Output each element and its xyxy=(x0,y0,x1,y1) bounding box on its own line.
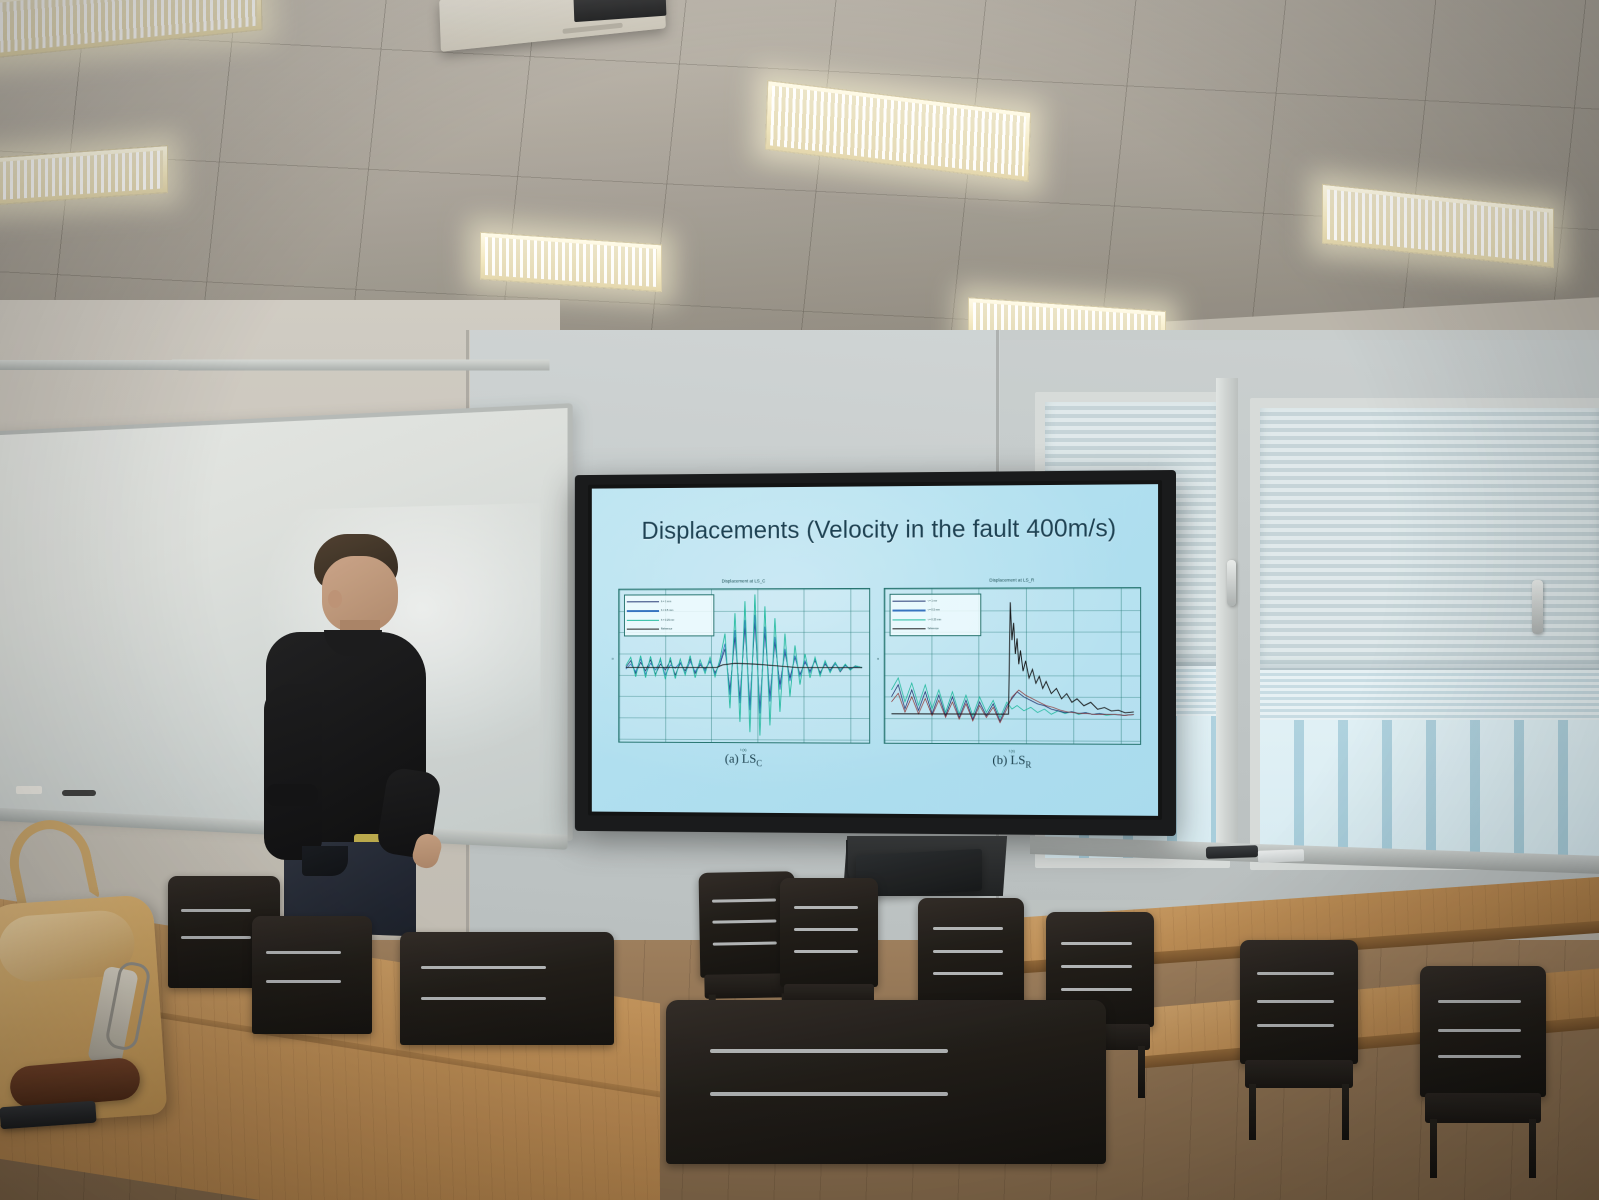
display-bezel: Displacements (Velocity in the fault 400… xyxy=(588,480,1162,820)
chart-right-legend: h = 1 mm h = 0.5 mm h = 0.25 mm Referenc… xyxy=(889,593,981,636)
figure-right: Displacement at LS_R h = 1 mm h = 0.5 mm xyxy=(885,587,1141,773)
presenter-left-arm xyxy=(264,684,322,860)
window-handle-left[interactable] xyxy=(1227,560,1236,606)
legend-label: h = 0.5 mm xyxy=(927,609,940,612)
legend-swatch xyxy=(627,610,659,612)
legend-entry: h = 1 mm xyxy=(627,598,711,606)
legend-label: Reference xyxy=(927,627,939,630)
legend-swatch xyxy=(892,610,925,612)
slide-surface: Displacements (Velocity in the fault 400… xyxy=(592,484,1158,816)
figure-left: Displacement at LS_C h = 1 mm h = 0.5 mm xyxy=(619,588,869,771)
wall-rail xyxy=(0,359,550,370)
legend-entry: Reference xyxy=(892,625,978,633)
presenter-sleeve-cuff xyxy=(266,784,318,806)
figure-right-caption: (b) LSR xyxy=(992,752,1031,770)
legend-entry: h = 0.25 mm xyxy=(892,616,978,624)
chair[interactable] xyxy=(1420,966,1546,1178)
figure-left-caption: (a) LSC xyxy=(725,751,762,768)
papers-on-ledge xyxy=(1258,849,1304,863)
window-view xyxy=(1260,670,1599,860)
chair-back xyxy=(252,916,372,1034)
chart-right-title: Displacement at LS_R xyxy=(885,577,1141,583)
chair[interactable] xyxy=(1240,940,1358,1140)
remote-control[interactable] xyxy=(1206,845,1258,859)
chair-back xyxy=(400,932,614,1045)
legend-label: h = 1 mm xyxy=(661,600,671,603)
presenter-pocket xyxy=(302,846,348,876)
chair-back xyxy=(780,878,878,987)
legend-swatch xyxy=(627,619,659,621)
projector-port-panel xyxy=(573,0,667,22)
window-mullion xyxy=(1216,378,1238,858)
legend-swatch xyxy=(627,601,659,603)
legend-swatch xyxy=(892,619,925,621)
chart-ls-r: Displacement at LS_R h = 1 mm h = 0.5 mm xyxy=(884,587,1142,745)
legend-entry: h = 0.25 mm xyxy=(627,616,711,624)
window-blind[interactable] xyxy=(1260,408,1599,670)
legend-entry: h = 1 mm xyxy=(892,597,978,605)
chart-left-ylabel: u xyxy=(611,658,615,660)
legend-label: h = 0.5 mm xyxy=(661,609,673,612)
presenter-ear xyxy=(328,590,342,608)
chair-back xyxy=(918,898,1024,1011)
window-handle-right[interactable] xyxy=(1532,580,1543,634)
legend-label: Reference xyxy=(661,628,672,631)
chair-back xyxy=(1240,940,1358,1064)
legend-swatch xyxy=(627,628,659,630)
chair-seat xyxy=(1245,1060,1354,1088)
chair[interactable] xyxy=(400,932,614,1114)
whiteboard-marker[interactable] xyxy=(62,790,96,796)
whiteboard-eraser[interactable] xyxy=(16,786,42,794)
chart-left-title: Displacement at LS_C xyxy=(619,578,869,584)
chair[interactable] xyxy=(252,916,372,1106)
legend-entry: h = 0.5 mm xyxy=(627,607,711,615)
legend-swatch xyxy=(892,628,925,630)
presentation-display[interactable]: Displacements (Velocity in the fault 400… xyxy=(575,470,1176,836)
chart-left-legend: h = 1 mm h = 0.5 mm h = 0.25 mm Referenc… xyxy=(624,594,714,637)
legend-entry: Reference xyxy=(627,625,711,633)
legend-entry: h = 0.5 mm xyxy=(892,606,978,614)
chart-right-xlabel: t (s) xyxy=(885,749,1141,754)
chart-right-ylabel: u xyxy=(876,658,880,660)
figure-row: Displacement at LS_C h = 1 mm h = 0.5 mm xyxy=(619,587,1140,773)
exterior-blind-band xyxy=(1260,670,1599,719)
slide-title: Displacements (Velocity in the fault 400… xyxy=(642,514,1129,545)
projector-vent xyxy=(562,23,622,34)
legend-label: h = 0.25 mm xyxy=(927,618,941,621)
chart-left-xlabel: t (s) xyxy=(619,748,869,753)
chair-seat xyxy=(1425,1093,1541,1123)
classroom-presentation-scene: Displacements (Velocity in the fault 400… xyxy=(0,0,1599,1200)
chair-back xyxy=(1420,966,1546,1097)
legend-label: h = 1 mm xyxy=(927,600,938,603)
legend-swatch xyxy=(892,600,925,602)
chair-foreground[interactable] xyxy=(666,1000,1106,1200)
window-right[interactable] xyxy=(1250,398,1599,870)
chair-back xyxy=(666,1000,1106,1164)
legend-label: h = 0.25 mm xyxy=(661,619,675,622)
chart-ls-c: Displacement at LS_C h = 1 mm h = 0.5 mm xyxy=(618,588,869,744)
